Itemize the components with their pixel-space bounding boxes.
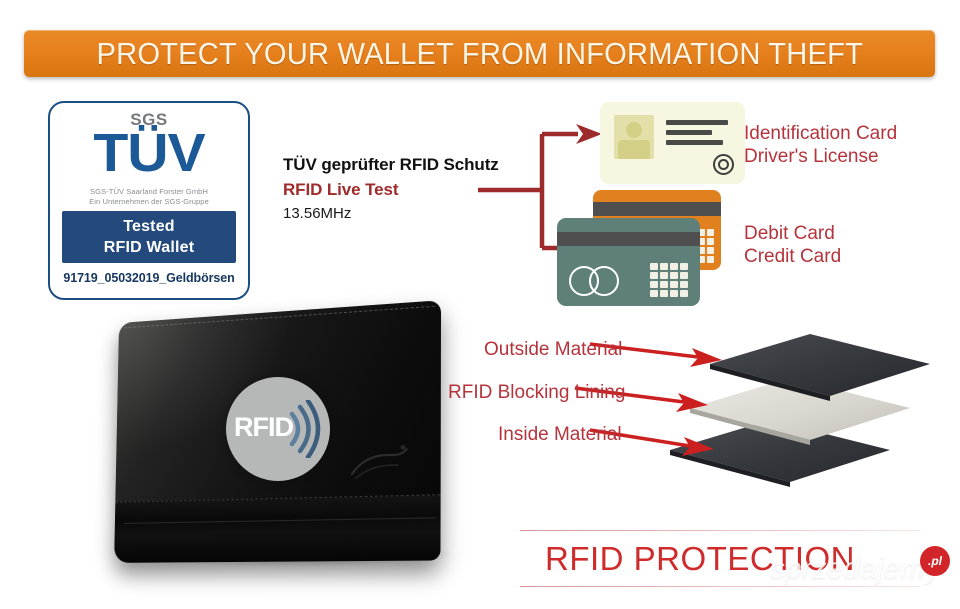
id-hologram-icon xyxy=(713,154,734,175)
tuv-band-line1: Tested xyxy=(123,216,175,237)
protected-cards-illustration xyxy=(555,100,755,300)
tuv-certification-badge: SGS TÜV SGS-TÜV Saarland Forster GmbH Ei… xyxy=(48,101,250,300)
tuv-band-line2: RFID Wallet xyxy=(104,237,195,258)
outside-material-label: Outside Material xyxy=(484,339,622,361)
id-photo-body xyxy=(618,140,650,159)
rfid-signal-waves-icon xyxy=(288,400,328,458)
wallet-fold-edge xyxy=(114,494,441,563)
id-label-line2: Driver's License xyxy=(744,145,897,168)
id-photo-placeholder xyxy=(614,115,654,159)
magnetic-stripe xyxy=(593,202,721,216)
watermark-domain-badge: .pl xyxy=(920,546,950,576)
page-title: PROTECT YOUR WALLET FROM INFORMATION THE… xyxy=(96,36,863,72)
rfid-badge-label: RFID xyxy=(234,412,293,443)
identification-card-label: Identification Card Driver's License xyxy=(744,122,897,168)
header-banner: PROTECT YOUR WALLET FROM INFORMATION THE… xyxy=(24,30,935,77)
outside-material-sheet xyxy=(710,334,930,396)
payment-label-line1: Debit Card xyxy=(744,222,841,245)
payment-label-line2: Credit Card xyxy=(744,245,841,268)
certificate-code: 91719_05032019_Geldbörsen xyxy=(50,271,248,285)
id-text-line xyxy=(666,130,712,135)
tuv-subtitle-line2: Ein Unternehmen der SGS-Gruppe xyxy=(50,197,248,206)
rfid-blocking-lining-label: RFID Blocking Lining xyxy=(448,382,625,404)
interlocking-circles-logo-icon xyxy=(569,266,621,296)
wallet-brand-emboss-icon xyxy=(345,442,413,485)
footer-divider-top xyxy=(520,530,920,531)
id-photo-head xyxy=(626,122,642,138)
id-label-line1: Identification Card xyxy=(744,122,897,145)
payment-cards-label: Debit Card Credit Card xyxy=(744,222,841,268)
tuv-mark-text: TÜV xyxy=(48,125,250,181)
infographic-page: PROTECT YOUR WALLET FROM INFORMATION THE… xyxy=(0,0,960,609)
id-text-line xyxy=(666,140,723,145)
footer-branding: RFID PROTECTION sprzedajemy .pl xyxy=(520,528,940,590)
identification-card-graphic xyxy=(600,102,745,184)
debit-card-graphic xyxy=(557,218,700,306)
wallet-inner-fold xyxy=(123,517,436,549)
inside-material-label: Inside Material xyxy=(498,424,622,446)
wallet-product-image: RFID xyxy=(88,305,478,600)
tuv-tested-band: Tested RFID Wallet xyxy=(62,211,236,263)
rfid-badge: RFID xyxy=(226,377,330,481)
footer-divider-bottom xyxy=(520,586,920,587)
tuv-subtitle-line1: SGS-TÜV Saarland Forster GmbH xyxy=(50,187,248,196)
watermark-text: sprzedajemy xyxy=(770,552,940,586)
magnetic-stripe xyxy=(557,232,700,246)
id-text-line xyxy=(666,120,728,125)
material-layers-illustration xyxy=(660,322,960,502)
card-number-grid xyxy=(650,263,688,297)
